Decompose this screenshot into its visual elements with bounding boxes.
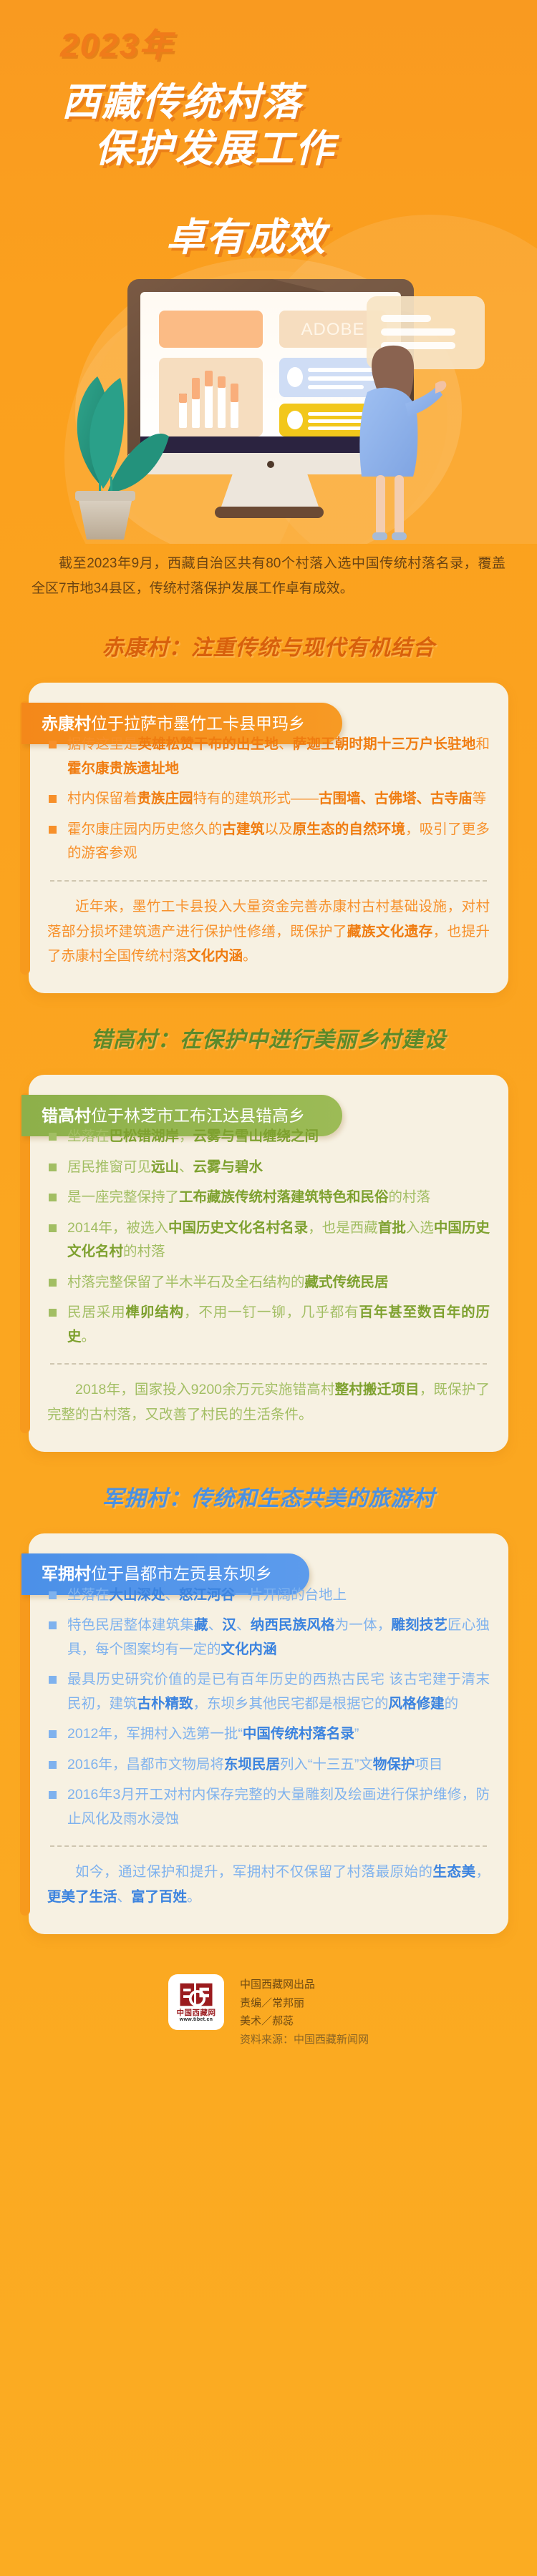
list-item: 2014年，被选入中国历史文化名村名录，也是西藏首批入选中国历史文化名村的村落 — [47, 1216, 490, 1264]
section-heading-cuogao: 错高村：在保护中进行美丽乡村建设 — [0, 1022, 537, 1053]
card-label-location: 位于林芝市工布江达县错高乡 — [91, 1108, 305, 1124]
card-summary-cuogao: 2018年，国家投入9200余万元实施错高村整村搬迁项目，既保护了完整的古村落，… — [47, 1377, 490, 1427]
list-item: 霍尔康庄园内历史悠久的古建筑以及原生态的自然环境，吸引了更多的游客参观 — [47, 818, 490, 866]
card-summary-chikang: 近年来，墨竹工卡县投入大量资金完善赤康村古村基础设施，对村落部分损坏建筑遗产进行… — [47, 894, 490, 969]
card-label-location: 位于昌都市左贡县东坝乡 — [91, 1566, 272, 1582]
footer-credits: 中国西藏网出品 责编／常邦丽 美术／郝蕊 资料来源：中国西藏新闻网 — [240, 1974, 369, 2049]
hero-title-line-1: 西藏传统村落 — [62, 79, 500, 127]
card-label-location: 位于拉萨市墨竹工卡县甲玛乡 — [91, 716, 305, 732]
list-item: 村内保留着贵族庄园特有的建筑形式——古围墙、古佛塔、古寺庙等 — [47, 787, 490, 811]
list-item: 民居采用榫卯结构，不用一钉一铆，几乎都有百年甚至数百年的历史。 — [47, 1301, 490, 1349]
list-item: 村落完整保留了半木半石及全石结构的藏式传统民居 — [47, 1271, 490, 1295]
hero-illustration: ADOBE — [0, 270, 537, 544]
list-item: 据传这里是英雄松赞干布的出生地、萨迦王朝时期十三万户长驻地和霍尔康贵族遗址地 — [47, 733, 490, 781]
list-item: 居民推窗可见远山、云雾与碧水 — [47, 1156, 490, 1180]
produced-by: 中国西藏网出品 — [240, 1976, 369, 1994]
list-item: 是一座完整保持了工布藏族传统村落建筑特色和民俗的村落 — [47, 1186, 490, 1210]
card-label-village-name: 军拥村 — [42, 1566, 91, 1582]
bullet-list-junyong: 坐落在大山深处、怒江河谷一片开阔的台地上 特色民居整体建筑集藏、汉、纳西民族风格… — [47, 1584, 490, 1832]
hero-banner: 2023年 西藏传统村落 保护发展工作 卓有成效 — [0, 0, 537, 544]
hero-year: 2023年 — [60, 27, 500, 64]
list-item: 2012年，军拥村入选第一批“中国传统村落名录” — [47, 1722, 490, 1747]
card-cuogao: 错高村位于林芝市工布江达县错高乡 坐落在巴松错湖岸，云雾与雪山缠绕之间 居民推窗… — [29, 1075, 508, 1452]
list-item: 2016年3月开工对村内保存完整的大量雕刻及绘画进行保护维修，防止风化及雨水浸蚀 — [47, 1783, 490, 1831]
logo-url: www.tibet.cn — [180, 2017, 213, 2022]
intro-paragraph: 截至2023年9月，西藏自治区共有80个村落入选中国传统村落名录，覆盖全区7市地… — [32, 551, 505, 601]
tibet-net-logo: 中国西藏网 www.tibet.cn — [168, 1974, 224, 2030]
card-accent-bar — [20, 1093, 30, 1433]
list-item: 坐落在巴松错湖岸，云雾与雪山缠绕之间 — [47, 1125, 490, 1149]
bullet-list-chikang: 据传这里是英雄松赞干布的出生地、萨迦王朝时期十三万户长驻地和霍尔康贵族遗址地 村… — [47, 733, 490, 866]
logo-name: 中国西藏网 — [176, 2009, 216, 2018]
card-divider — [50, 1363, 487, 1365]
hero-title-block: 2023年 西藏传统村落 保护发展工作 卓有成效 — [0, 0, 537, 262]
screen-adobe-label: ADOBE — [301, 320, 364, 339]
section-heading-junyong: 军拥村：传统和生态共美的旅游村 — [0, 1480, 537, 1512]
section-heading-chikang: 赤康村：注重传统与现代有机结合 — [0, 630, 537, 661]
card-summary-junyong: 如今，通过保护和提升，军拥村不仅保留了村落最原始的生态美，更美了生活、富了百姓。 — [47, 1860, 490, 1909]
card-accent-bar — [20, 1552, 30, 1916]
list-item: 最具历史研究价值的是已有百年历史的西热古民宅 该古宅建于清末民初，建筑古朴精致，… — [47, 1668, 490, 1716]
source-credit: 资料来源：中国西藏新闻网 — [240, 2031, 369, 2049]
card-divider — [50, 1845, 487, 1847]
list-item: 坐落在大山深处、怒江河谷一片开阔的台地上 — [47, 1584, 490, 1608]
bullet-list-cuogao: 坐落在巴松错湖岸，云雾与雪山缠绕之间 居民推窗可见远山、云雾与碧水 是一座完整保… — [47, 1125, 490, 1349]
list-item: 2016年，昌都市文物局将东坝民居列入“十三五”文物保护项目 — [47, 1753, 490, 1777]
card-divider — [50, 880, 487, 882]
footer: 中国西藏网 www.tibet.cn 中国西藏网出品 责编／常邦丽 美术／郝蕊 … — [0, 1974, 537, 2092]
seal-icon — [179, 1982, 213, 2007]
hero-title-line-3: 卓有成效 — [166, 215, 500, 262]
card-label-village-name: 错高村 — [42, 1108, 91, 1124]
card-junyong: 军拥村位于昌都市左贡县东坝乡 坐落在大山深处、怒江河谷一片开阔的台地上 特色民居… — [29, 1533, 508, 1934]
art-credit: 美术／郝蕊 — [240, 2012, 369, 2031]
editor-credit: 责编／常邦丽 — [240, 1994, 369, 2013]
card-chikang: 赤康村位于拉萨市墨竹工卡县甲玛乡 据传这里是英雄松赞干布的出生地、萨迦王朝时期十… — [29, 683, 508, 993]
card-label-village-name: 赤康村 — [42, 716, 91, 732]
list-item: 特色民居整体建筑集藏、汉、纳西民族风格为一体，雕刻技艺匠心独具，每个图案均有一定… — [47, 1614, 490, 1662]
hero-title-line-2: 保护发展工作 — [95, 126, 500, 173]
